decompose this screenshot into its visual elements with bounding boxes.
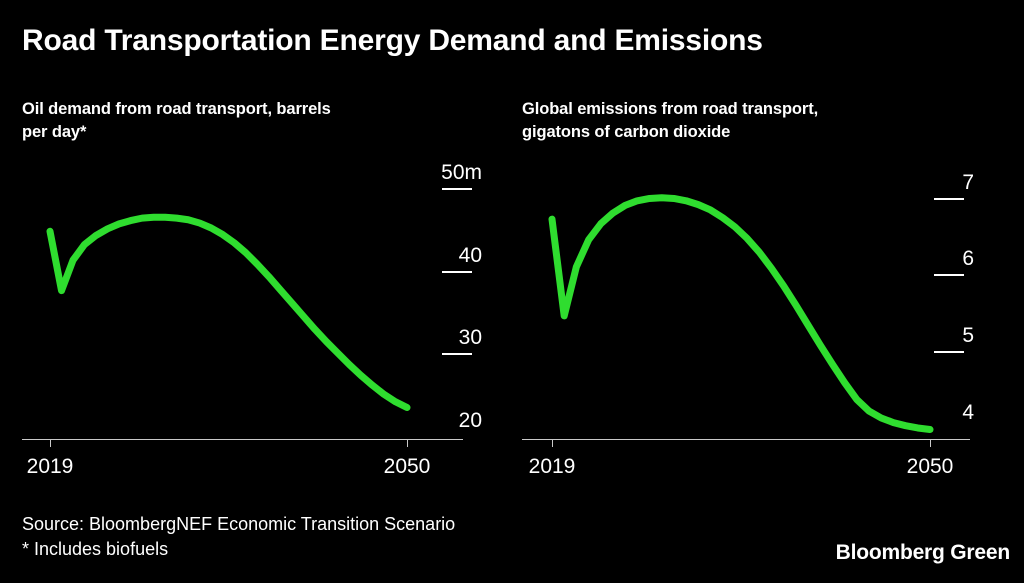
y-tick-dash	[442, 353, 472, 355]
y-tick-dash	[442, 188, 472, 190]
y-tick-label: 30	[412, 327, 482, 348]
panel-oil-subtitle-line2: per day*	[22, 121, 462, 144]
y-tick-dash	[934, 198, 964, 200]
source-note: Source: BloombergNEF Economic Transition…	[22, 512, 455, 537]
y-tick-label: 4	[904, 402, 974, 423]
plot-area-road-emissions: 7654 20192050	[522, 155, 982, 438]
panel-emissions-subtitle: Global emissions from road transport, gi…	[522, 98, 962, 144]
oil-demand-series-line	[50, 217, 407, 407]
panel-oil-subtitle: Oil demand from road transport, barrels …	[22, 98, 462, 144]
y-tick-dash	[934, 351, 964, 353]
x-axis-line-road-emissions	[522, 439, 970, 440]
x-tick-label: 2019	[522, 456, 582, 477]
y-tick-dash	[934, 274, 964, 276]
page-title: Road Transportation Energy Demand and Em…	[22, 23, 982, 59]
y-tick-label: 5	[904, 325, 974, 346]
y-tick-label: 50m	[412, 162, 482, 183]
x-tick-label: 2019	[20, 456, 80, 477]
road-emissions-line-svg	[522, 155, 982, 438]
y-tick-label: 6	[904, 248, 974, 269]
y-tick-label: 40	[412, 245, 482, 266]
x-tick-label: 2050	[900, 456, 960, 477]
panel-oil-subtitle-line1: Oil demand from road transport, barrels	[22, 98, 462, 121]
x-axis-line-oil-demand	[22, 439, 463, 440]
x-tick-mark	[552, 440, 553, 447]
y-tick-label: 7	[904, 172, 974, 193]
oil-demand-line-svg	[22, 155, 482, 438]
panel-road-emissions: Global emissions from road transport, gi…	[522, 98, 982, 480]
road-emissions-series-line	[552, 198, 930, 430]
x-tick-label: 2050	[377, 456, 437, 477]
brand-logo-bloomberg-green: Bloomberg Green	[836, 541, 1010, 565]
chart-page: Road Transportation Energy Demand and Em…	[0, 0, 1024, 583]
plot-area-oil-demand: 50m403020 20192050	[22, 155, 482, 438]
x-tick-mark	[930, 440, 931, 447]
panel-emissions-subtitle-line1: Global emissions from road transport,	[522, 98, 962, 121]
x-tick-mark	[50, 440, 51, 447]
footnote-biofuels: * Includes biofuels	[22, 537, 168, 562]
y-tick-label: 20	[412, 410, 482, 431]
x-tick-mark	[407, 440, 408, 447]
panel-emissions-subtitle-line2: gigatons of carbon dioxide	[522, 121, 962, 144]
panel-oil-demand: Oil demand from road transport, barrels …	[22, 98, 482, 480]
y-tick-dash	[442, 271, 472, 273]
